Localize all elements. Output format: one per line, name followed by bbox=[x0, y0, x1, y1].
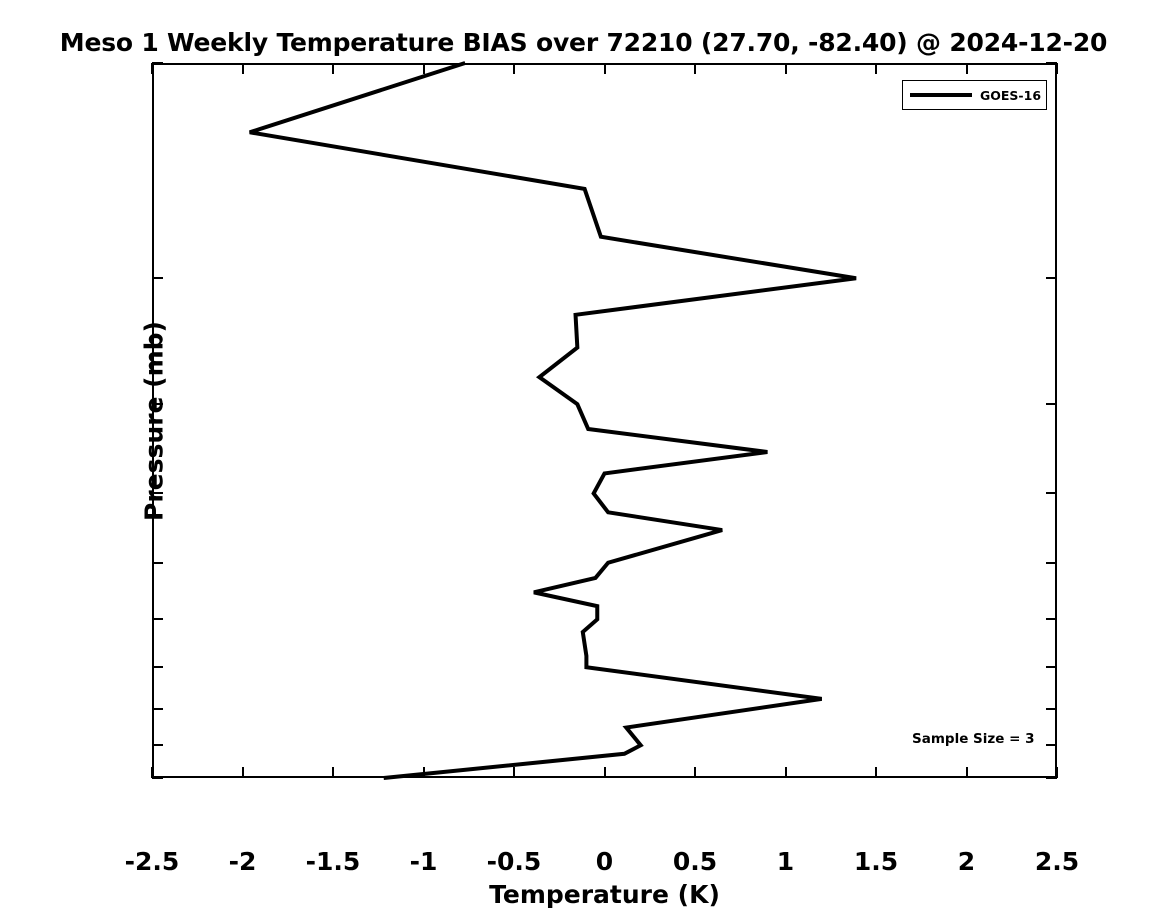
legend[interactable]: GOES-16 bbox=[902, 80, 1047, 110]
data-line-goes-16 bbox=[250, 63, 856, 778]
data-series-layer bbox=[152, 63, 1057, 778]
legend-label-goes-16: GOES-16 bbox=[980, 88, 1041, 103]
legend-line-swatch bbox=[910, 93, 972, 97]
chart-figure: Meso 1 Weekly Temperature BIAS over 7221… bbox=[0, 0, 1167, 875]
sample-size-annotation: Sample Size = 3 bbox=[912, 731, 1112, 747]
plot-area: 1002003004005006007008009001000 -2.5-2-1… bbox=[152, 63, 1057, 778]
chart-title: Meso 1 Weekly Temperature BIAS over 7221… bbox=[0, 28, 1167, 57]
x-axis-title: Temperature (K) bbox=[152, 880, 1057, 909]
x-tick-label-2.5: 2.5 bbox=[997, 847, 1117, 876]
